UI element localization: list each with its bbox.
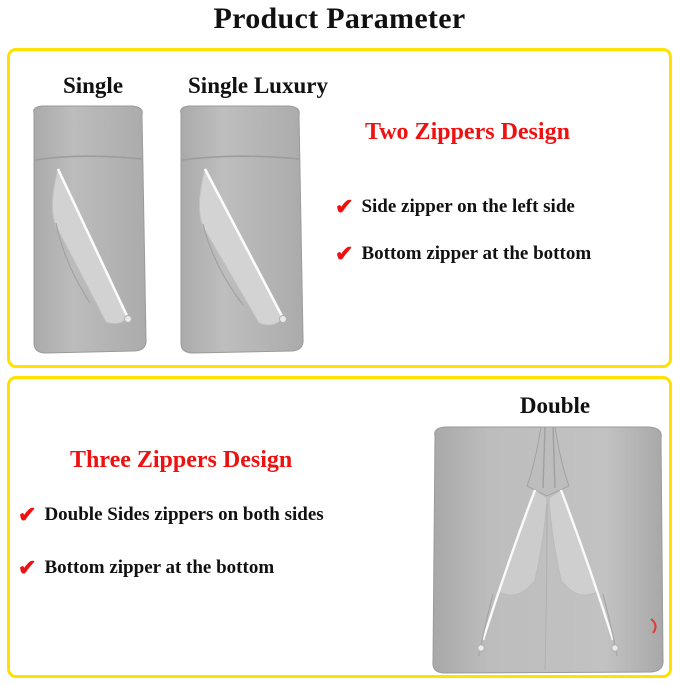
bullet-bottom-zipper: ✔ Bottom zipper at the bottom <box>335 243 591 265</box>
check-icon: ✔ <box>18 557 36 579</box>
bullet-side-zipper-label: Side zipper on the left side <box>361 196 574 218</box>
bullet-double-sides-zippers: ✔ Double Sides zippers on both sides <box>18 504 324 526</box>
bottom-panel: Double <box>7 376 672 678</box>
bullet-bottom-zipper-double-label: Bottom zipper at the bottom <box>44 557 274 579</box>
bullet-bottom-zipper-label: Bottom zipper at the bottom <box>361 243 591 265</box>
bullet-double-sides-zippers-label: Double Sides zippers on both sides <box>44 504 323 526</box>
two-zippers-heading: Two Zippers Design <box>365 119 570 146</box>
bed-illustration-single-luxury <box>165 103 315 359</box>
bed-label-single-luxury: Single Luxury <box>158 73 358 99</box>
page-title: Product Parameter <box>0 0 679 36</box>
check-icon: ✔ <box>335 196 353 218</box>
three-zippers-heading: Three Zippers Design <box>70 447 292 474</box>
bed-illustration-single <box>20 103 160 359</box>
check-icon: ✔ <box>18 504 36 526</box>
bed-label-double: Double <box>465 393 645 419</box>
bed-illustration-double <box>423 424 673 676</box>
bullet-bottom-zipper-double: ✔ Bottom zipper at the bottom <box>18 557 274 579</box>
top-panel: Single Single Luxury <box>7 48 672 368</box>
bed-label-single: Single <box>38 73 148 99</box>
check-icon: ✔ <box>335 243 353 265</box>
bullet-side-zipper: ✔ Side zipper on the left side <box>335 196 575 218</box>
